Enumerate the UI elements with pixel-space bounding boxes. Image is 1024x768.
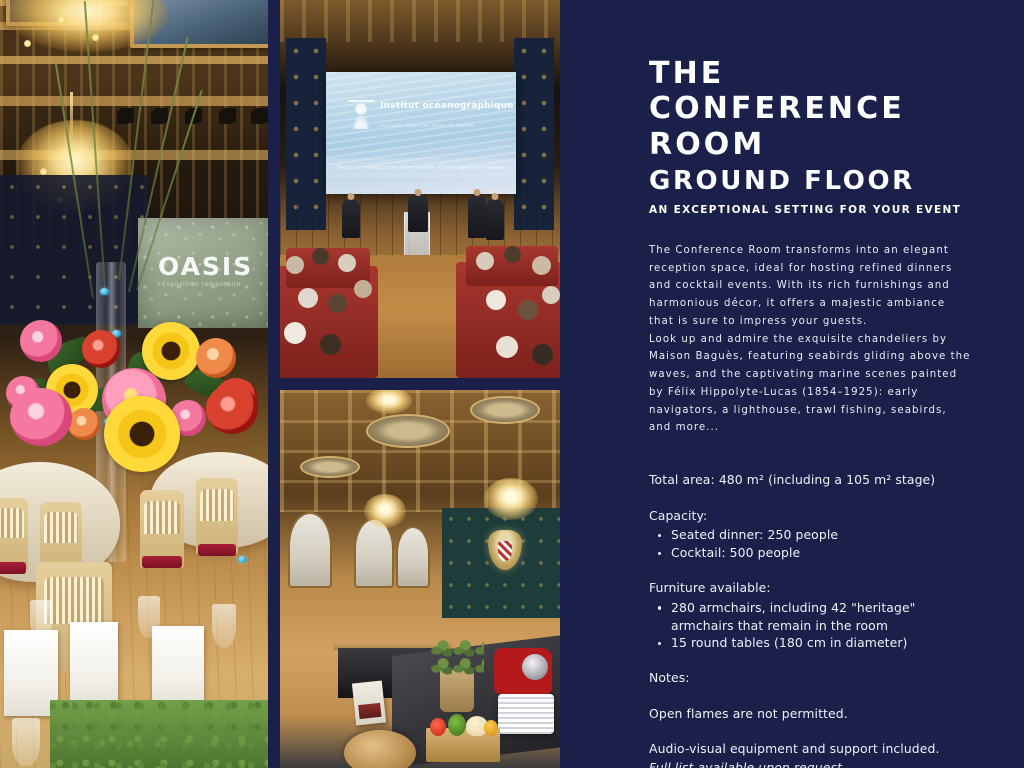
wine-glass	[30, 600, 52, 642]
photo-banquet: OASIS Exposition temporaire	[0, 0, 268, 768]
wall-arch	[354, 518, 394, 588]
wine-glass	[138, 596, 160, 638]
photo-ballroom	[280, 390, 560, 768]
spacer	[649, 723, 972, 740]
auditorium-ceiling	[280, 0, 560, 42]
notes-label: Notes:	[649, 669, 972, 688]
sunflower-closeup	[104, 396, 180, 472]
bar-stool	[449, 604, 469, 644]
slide-subtitle: Fondation Albert Ier, Prince de Monaco	[380, 124, 475, 129]
attendee	[468, 196, 486, 238]
furniture-list: 280 armchairs, including 42 "heritage" a…	[649, 599, 972, 653]
napoleon-chair	[196, 478, 238, 554]
institut-logo-icon	[348, 100, 374, 130]
presentation-screen: Institut océanographique Fondation Alber…	[326, 72, 516, 194]
page-subtitle: GROUND FLOOR	[649, 166, 972, 197]
attendee	[342, 200, 360, 238]
spacer	[649, 490, 972, 507]
spacer	[649, 652, 972, 669]
wall-arch	[396, 526, 430, 588]
attendee	[486, 200, 504, 240]
photo-banquet-column: OASIS Exposition temporaire	[0, 0, 268, 768]
capacity-label: Capacity:	[649, 507, 972, 526]
list-item: Cocktail: 500 people	[671, 544, 972, 562]
note-open-flames: Open flames are not permitted.	[649, 705, 972, 724]
furniture-label: Furniture available:	[649, 579, 972, 598]
capacity-list: Seated dinner: 250 people Cocktail: 500 …	[649, 526, 972, 562]
title-line-1: THE CONFERENCE	[649, 56, 905, 126]
bread-loaf	[344, 730, 416, 768]
vegetable-board	[426, 728, 500, 762]
bar-stool	[314, 640, 340, 692]
title-line-2: ROOM	[649, 127, 765, 162]
napoleon-chair	[0, 498, 28, 570]
info-panel: THE CONFERENCE ROOM GROUND FLOOR AN EXCE…	[572, 0, 1024, 768]
brochure-page: OASIS Exposition temporaire	[0, 0, 1024, 768]
herb-pot	[440, 670, 474, 712]
note-audio-visual: Audio-visual equipment and support inclu…	[649, 740, 972, 759]
page-tagline: AN EXCEPTIONAL SETTING FOR YOUR EVENT	[649, 204, 972, 216]
menu-sign	[352, 681, 386, 726]
ceiling-medallion	[366, 414, 450, 448]
chandelier-icon	[484, 478, 538, 520]
spacer	[649, 562, 972, 579]
moss-table-runner	[50, 700, 268, 768]
wall-arch	[288, 512, 332, 588]
slide-banner-text: Toujours mieux connaître, aimer et proté…	[337, 165, 505, 171]
bar-stool	[346, 634, 372, 686]
note-audio-visual-italic: Full list available upon request.	[649, 759, 972, 768]
ceiling-medallion	[300, 456, 360, 478]
ceiling-medallion	[470, 396, 540, 424]
list-item: Seated dinner: 250 people	[671, 526, 972, 544]
spacer	[649, 688, 972, 705]
photo-middle-column: Institut océanographique Fondation Alber…	[280, 0, 572, 768]
photo-auditorium: Institut océanographique Fondation Alber…	[280, 0, 560, 378]
plate-stack	[498, 694, 554, 734]
chandelier-icon	[364, 494, 406, 528]
slide-banner: Toujours mieux connaître, aimer et proté…	[326, 158, 516, 178]
menu-card	[152, 626, 204, 710]
description-paragraph-2: Look up and admire the exquisite chandel…	[649, 331, 972, 438]
bistro-table	[497, 591, 524, 633]
page-title: THE CONFERENCE ROOM	[649, 56, 972, 162]
description-paragraph-1: The Conference Room transforms into an e…	[649, 242, 972, 331]
list-item: 15 round tables (180 cm in diameter)	[671, 634, 972, 652]
specifications-block: Total area: 480 m² (including a 105 m² s…	[649, 471, 972, 768]
description-block: The Conference Room transforms into an e…	[649, 242, 972, 437]
menu-card	[70, 622, 118, 710]
wine-glass	[212, 604, 236, 648]
list-item: 280 armchairs, including 42 "heritage" a…	[671, 599, 972, 635]
speaker	[408, 196, 428, 232]
total-area: Total area: 480 m² (including a 105 m² s…	[649, 471, 972, 490]
slide-title: Institut océanographique	[380, 102, 514, 112]
meat-slicer	[494, 648, 552, 694]
wine-glass	[12, 718, 40, 766]
